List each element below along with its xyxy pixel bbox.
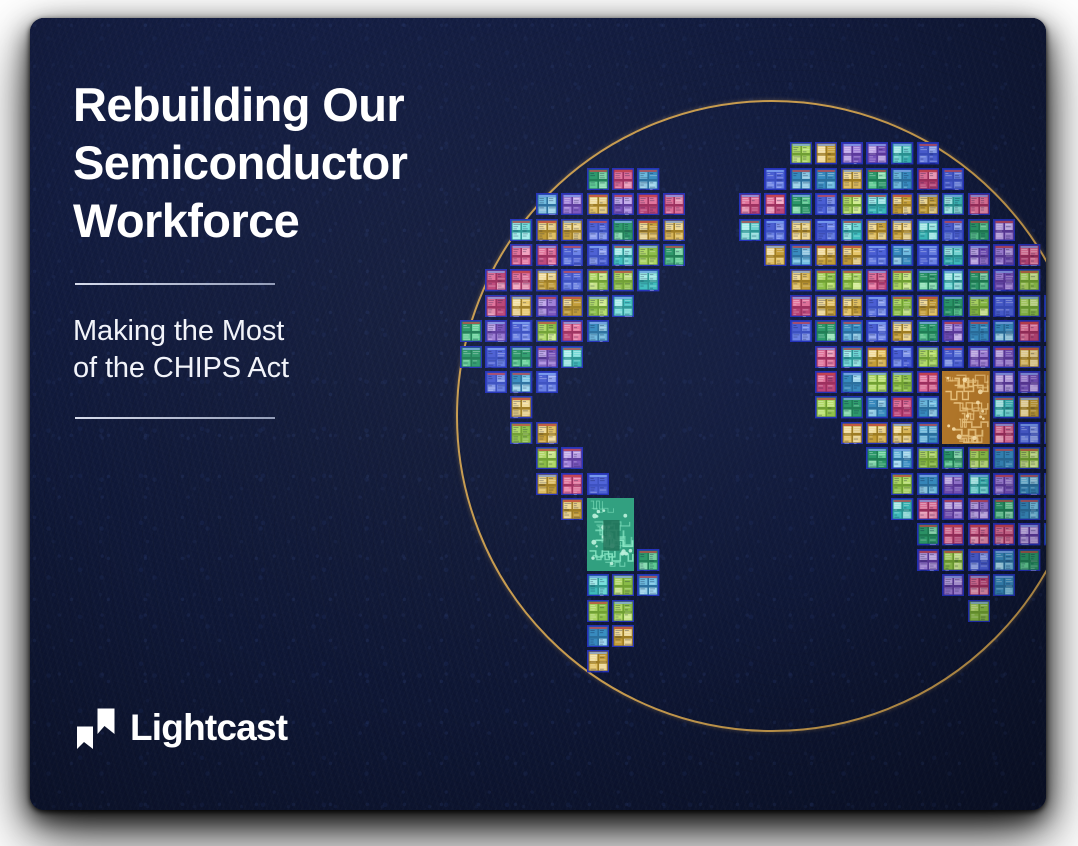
chip-die-tile xyxy=(815,193,837,220)
chip-die-tile xyxy=(917,498,939,525)
chip-die-tile xyxy=(1044,422,1046,449)
chip-die-tile xyxy=(866,371,888,398)
chip-die-tile xyxy=(561,447,583,474)
chip-die-tile xyxy=(841,244,863,271)
chip-die-tile xyxy=(1018,523,1040,550)
chip-die-tile xyxy=(993,473,1015,500)
chip-die-tile xyxy=(968,498,990,525)
chip-die-tile xyxy=(841,371,863,398)
chip-die-tile xyxy=(561,219,583,246)
chip-die-tile xyxy=(612,193,634,220)
chip-die-tile xyxy=(1044,320,1046,347)
chip-die-tile xyxy=(510,244,532,271)
chip-die-tile xyxy=(942,523,964,550)
chip-die-tile xyxy=(968,447,990,474)
chip-die-tile xyxy=(815,269,837,296)
lightcast-chevrons-mark-icon xyxy=(73,704,117,752)
chip-die-tile xyxy=(637,193,659,220)
chip-die-tile xyxy=(942,193,964,220)
chip-die-tile xyxy=(815,320,837,347)
chip-die-tile xyxy=(841,295,863,322)
chip-die-tile xyxy=(866,244,888,271)
chip-die-tile xyxy=(891,422,913,449)
chip-die-tile xyxy=(587,600,609,627)
chip-die-tile xyxy=(536,320,558,347)
title-divider xyxy=(75,283,275,285)
chip-die-tile xyxy=(1044,473,1046,500)
chip-die-tile xyxy=(612,600,634,627)
chip-die-tile xyxy=(891,371,913,398)
chip-die-tile xyxy=(942,269,964,296)
chip-die-tile xyxy=(790,269,812,296)
chip-die-tile xyxy=(891,396,913,423)
chip-die-tile xyxy=(891,346,913,373)
chip-die-tile xyxy=(637,168,659,195)
chip-die-tile xyxy=(866,269,888,296)
chip-die-tile xyxy=(993,447,1015,474)
lightcast-wordmark: Lightcast xyxy=(130,708,287,748)
chip-die-tile xyxy=(663,193,685,220)
chip-die-tile xyxy=(968,219,990,246)
chip-die-tile xyxy=(1018,498,1040,525)
page-subtitle: Making the Most of the CHIPS Act xyxy=(73,313,493,387)
chip-die-tile xyxy=(1018,447,1040,474)
chip-die-tile xyxy=(993,219,1015,246)
chip-die-tile xyxy=(968,523,990,550)
chip-die-tile xyxy=(917,168,939,195)
chip-die-tile xyxy=(637,549,659,576)
chip-die-tile xyxy=(993,549,1015,576)
chip-die-tile xyxy=(917,320,939,347)
chip-die-tile xyxy=(917,523,939,550)
chip-die-tile xyxy=(536,244,558,271)
chip-die-tile xyxy=(891,193,913,220)
chip-die-tile xyxy=(917,193,939,220)
chip-die-tile xyxy=(942,219,964,246)
chip-die-tile xyxy=(637,574,659,601)
chip-die-tile xyxy=(841,422,863,449)
chip-die-tile xyxy=(764,168,786,195)
chip-die-tile xyxy=(841,193,863,220)
chip-die-tile xyxy=(637,219,659,246)
chip-die-tile xyxy=(891,473,913,500)
chip-die-tile xyxy=(968,244,990,271)
chip-die-tile xyxy=(993,523,1015,550)
chip-die-tile xyxy=(739,219,761,246)
chip-die-tile xyxy=(510,422,532,449)
chip-die-tile xyxy=(917,447,939,474)
chip-die-tile xyxy=(917,422,939,449)
chip-die-tile xyxy=(968,574,990,601)
chip-die-tile xyxy=(841,396,863,423)
chip-die-tile xyxy=(942,244,964,271)
chip-die-tile xyxy=(764,219,786,246)
chip-die-tile xyxy=(536,346,558,373)
page-subtitle-line-2: of the CHIPS Act xyxy=(73,352,289,384)
chip-die-tile xyxy=(917,244,939,271)
page-title: Rebuilding Our Semiconductor Workforce xyxy=(73,76,493,250)
chip-die-tile xyxy=(866,295,888,322)
chip-die-tile xyxy=(942,473,964,500)
chip-die-tile xyxy=(587,244,609,271)
chip-die-tile xyxy=(815,244,837,271)
chip-die-tile xyxy=(993,574,1015,601)
chip-die-tile xyxy=(815,142,837,169)
chip-die-tile xyxy=(764,244,786,271)
chip-die-tile xyxy=(866,142,888,169)
chip-die-tile xyxy=(891,168,913,195)
chip-die-tile xyxy=(612,625,634,652)
chip-die-tile xyxy=(866,219,888,246)
chip-die-tile xyxy=(510,295,532,322)
chip-die-tile xyxy=(942,447,964,474)
chip-die-tile xyxy=(917,269,939,296)
chip-die-tile xyxy=(561,473,583,500)
chip-die-tile xyxy=(536,269,558,296)
chip-die-tile xyxy=(841,142,863,169)
chip-die-tile xyxy=(917,549,939,576)
chip-die-tile xyxy=(587,168,609,195)
chip-die-tile xyxy=(561,346,583,373)
chip-die-tile xyxy=(993,320,1015,347)
chip-die-tile xyxy=(612,295,634,322)
page-title-line-2: Semiconductor xyxy=(73,136,407,189)
chip-die-tile xyxy=(587,295,609,322)
chip-die-tile xyxy=(917,396,939,423)
chip-die-tile xyxy=(968,473,990,500)
chip-die-tile xyxy=(612,269,634,296)
chip-die-tile xyxy=(993,295,1015,322)
chip-die-tile xyxy=(790,168,812,195)
chip-die-tile xyxy=(993,346,1015,373)
chip-die-tile xyxy=(942,168,964,195)
chip-die-tile xyxy=(866,193,888,220)
chip-die-tile xyxy=(815,295,837,322)
chip-die-tile xyxy=(968,295,990,322)
chip-die-tile xyxy=(561,244,583,271)
chip-die-tile xyxy=(587,650,609,677)
chip-die-tile xyxy=(891,447,913,474)
chip-die-tile xyxy=(866,447,888,474)
chip-die-tile xyxy=(891,320,913,347)
chip-die-tile xyxy=(993,396,1015,423)
chip-die-tile xyxy=(1018,346,1040,373)
chip-die-tile xyxy=(587,269,609,296)
chip-die-tile xyxy=(637,244,659,271)
chip-die-tile xyxy=(510,346,532,373)
chip-die-tile xyxy=(968,269,990,296)
chip-die-tile xyxy=(866,346,888,373)
chip-die-tile xyxy=(764,193,786,220)
chip-die-tile xyxy=(815,346,837,373)
chip-die-tile xyxy=(815,396,837,423)
chip-die-tile xyxy=(510,219,532,246)
chip-die-tile xyxy=(917,346,939,373)
chip-die-tile xyxy=(561,320,583,347)
chip-die-tile xyxy=(815,168,837,195)
chip-die-tile xyxy=(561,498,583,525)
chip-die-tile xyxy=(1044,498,1046,525)
chip-die-tile xyxy=(561,295,583,322)
chip-die-tile xyxy=(1044,523,1046,550)
chip-die-tile xyxy=(663,244,685,271)
chip-die-tile xyxy=(917,473,939,500)
chip-die-tile xyxy=(993,498,1015,525)
chip-die-tile xyxy=(561,193,583,220)
chip-die-tile xyxy=(866,422,888,449)
chip-die-tile xyxy=(510,269,532,296)
chip-die-tile xyxy=(536,295,558,322)
chip-die-tile xyxy=(866,168,888,195)
chip-die-tile xyxy=(968,600,990,627)
chip-die-tile xyxy=(993,244,1015,271)
cover-card: Rebuilding Our Semiconductor Workforce M… xyxy=(30,18,1046,810)
chip-die-tile xyxy=(536,447,558,474)
page-title-line-1: Rebuilding Our xyxy=(73,78,404,131)
chip-die-tile xyxy=(790,142,812,169)
chip-die-tile xyxy=(510,371,532,398)
chip-die-tile xyxy=(815,219,837,246)
chip-die-tile xyxy=(891,244,913,271)
chip-die-tile xyxy=(663,219,685,246)
chip-die-tile xyxy=(1018,422,1040,449)
chip-die-tile xyxy=(739,193,761,220)
chip-die-tile xyxy=(968,346,990,373)
chip-die-tile xyxy=(891,219,913,246)
chip-die-tile xyxy=(917,371,939,398)
chip-die-tile xyxy=(968,193,990,220)
chip-die-tile xyxy=(942,574,964,601)
page-subtitle-line-1: Making the Most xyxy=(73,315,284,347)
chip-die-tile xyxy=(917,142,939,169)
chip-die-tile xyxy=(993,422,1015,449)
chip-die-tile xyxy=(790,193,812,220)
page-title-line-3: Workforce xyxy=(73,194,299,247)
chip-feature-die-gold xyxy=(942,371,990,449)
chip-die-tile xyxy=(612,168,634,195)
chip-die-tile xyxy=(1018,295,1040,322)
chip-die-tile xyxy=(1018,244,1040,271)
chip-die-tile xyxy=(637,269,659,296)
chip-die-tile xyxy=(942,320,964,347)
chip-die-tile xyxy=(942,498,964,525)
chip-die-tile xyxy=(587,625,609,652)
chip-die-tile xyxy=(841,269,863,296)
chip-die-tile xyxy=(866,320,888,347)
chip-feature-die-teal xyxy=(587,498,635,576)
chip-die-tile xyxy=(587,473,609,500)
chip-die-tile xyxy=(587,574,609,601)
chip-die-tile xyxy=(968,549,990,576)
chip-die-tile xyxy=(536,473,558,500)
chip-die-tile xyxy=(891,142,913,169)
chip-die-tile xyxy=(536,219,558,246)
chip-die-tile xyxy=(1018,396,1040,423)
chip-die-tile xyxy=(942,295,964,322)
chip-die-tile xyxy=(790,295,812,322)
chip-die-tile xyxy=(536,422,558,449)
chip-die-tile xyxy=(1018,269,1040,296)
chip-die-tile xyxy=(587,219,609,246)
chip-die-tile xyxy=(891,269,913,296)
chip-die-tile xyxy=(1018,473,1040,500)
chip-die-tile xyxy=(536,371,558,398)
chip-die-tile xyxy=(993,269,1015,296)
chip-die-tile xyxy=(1044,447,1046,474)
chip-die-tile xyxy=(866,396,888,423)
chip-die-tile xyxy=(993,371,1015,398)
chip-die-tile xyxy=(1044,371,1046,398)
chip-die-tile xyxy=(1044,295,1046,322)
chip-die-tile xyxy=(587,193,609,220)
chip-die-tile xyxy=(510,320,532,347)
chip-die-tile xyxy=(612,244,634,271)
lightcast-logo: Lightcast xyxy=(73,704,287,752)
chip-die-tile xyxy=(841,320,863,347)
chip-die-tile xyxy=(841,219,863,246)
chip-die-tile xyxy=(815,371,837,398)
chip-die-tile xyxy=(790,320,812,347)
chip-die-tile xyxy=(917,219,939,246)
chip-die-tile xyxy=(942,549,964,576)
chip-die-tile xyxy=(790,244,812,271)
subtitle-divider xyxy=(75,417,275,419)
chip-die-tile xyxy=(790,219,812,246)
chip-die-tile xyxy=(1044,346,1046,373)
chip-die-tile xyxy=(891,498,913,525)
chip-die-tile xyxy=(968,320,990,347)
chip-die-tile xyxy=(942,346,964,373)
chip-die-tile xyxy=(1018,371,1040,398)
chip-die-tile xyxy=(1018,320,1040,347)
chip-die-tile xyxy=(841,168,863,195)
chip-die-tile xyxy=(510,396,532,423)
chip-die-tile xyxy=(917,295,939,322)
chip-die-tile xyxy=(612,574,634,601)
report-cover-page: Rebuilding Our Semiconductor Workforce M… xyxy=(0,0,1078,846)
chip-die-tile xyxy=(841,346,863,373)
cover-text-block: Rebuilding Our Semiconductor Workforce M… xyxy=(73,76,493,419)
chip-die-tile xyxy=(561,269,583,296)
chip-die-tile xyxy=(1044,396,1046,423)
chip-die-tile xyxy=(891,295,913,322)
chip-die-tile xyxy=(587,320,609,347)
chip-die-tile xyxy=(612,219,634,246)
chip-die-tile xyxy=(1018,549,1040,576)
chip-die-tile xyxy=(536,193,558,220)
